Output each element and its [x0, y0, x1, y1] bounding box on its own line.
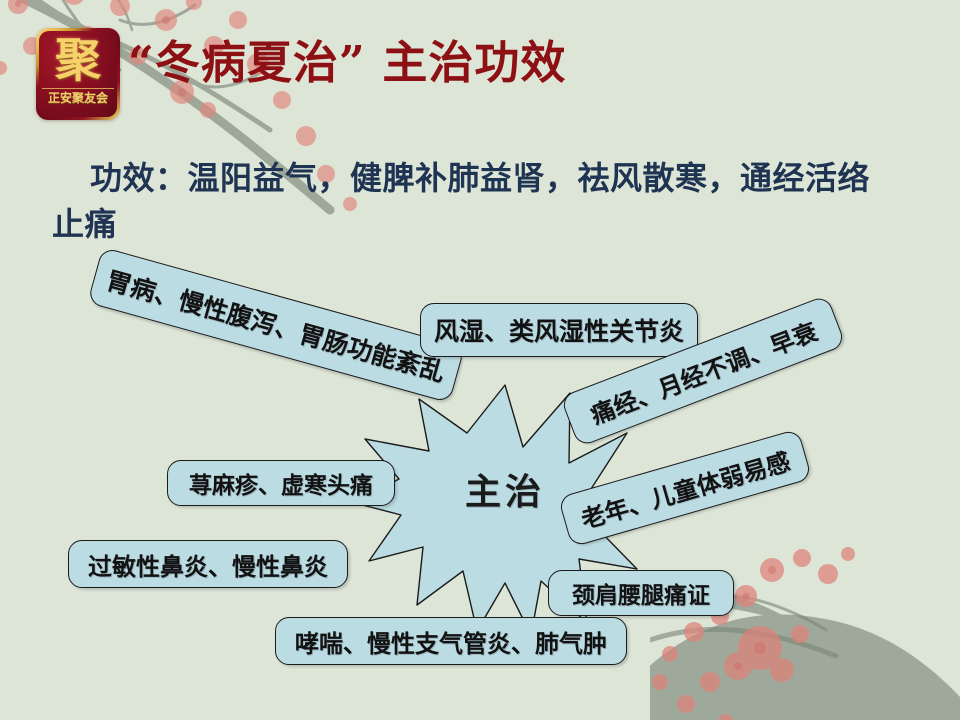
callout-rheumatism[interactable]: 风湿、类风湿性关节炎: [420, 303, 698, 357]
brand-logo-character: 聚: [55, 35, 101, 85]
brand-logo-inner: 聚 正安聚友会: [39, 31, 117, 117]
callout-asthma[interactable]: 哮喘、慢性支气管炎、肺气肿: [275, 617, 627, 665]
slide-canvas: 聚 正安聚友会 “冬病夏治” 主治功效 功效：温阳益气，健脾补肺益肾，祛风散寒，…: [0, 0, 960, 720]
brand-logo-divider: [42, 88, 114, 89]
page-title: “冬病夏治” 主治功效: [128, 34, 566, 92]
brand-logo: 聚 正安聚友会: [36, 28, 120, 120]
callout-rhinitis[interactable]: 过敏性鼻炎、慢性鼻炎: [68, 540, 348, 588]
brand-logo-org-name: 正安聚友会: [48, 91, 108, 106]
subtitle-text: 功效：温阳益气，健脾补肺益肾，祛风散寒，通经活络止痛: [52, 155, 892, 247]
callout-gastrointestinal[interactable]: 胃病、慢性腹泻、胃肠功能紊乱: [87, 247, 465, 403]
callout-neck-back-pain[interactable]: 颈肩腰腿痛证: [548, 570, 734, 616]
callout-urticaria[interactable]: 荨麻疹、虚寒头痛: [167, 460, 395, 506]
